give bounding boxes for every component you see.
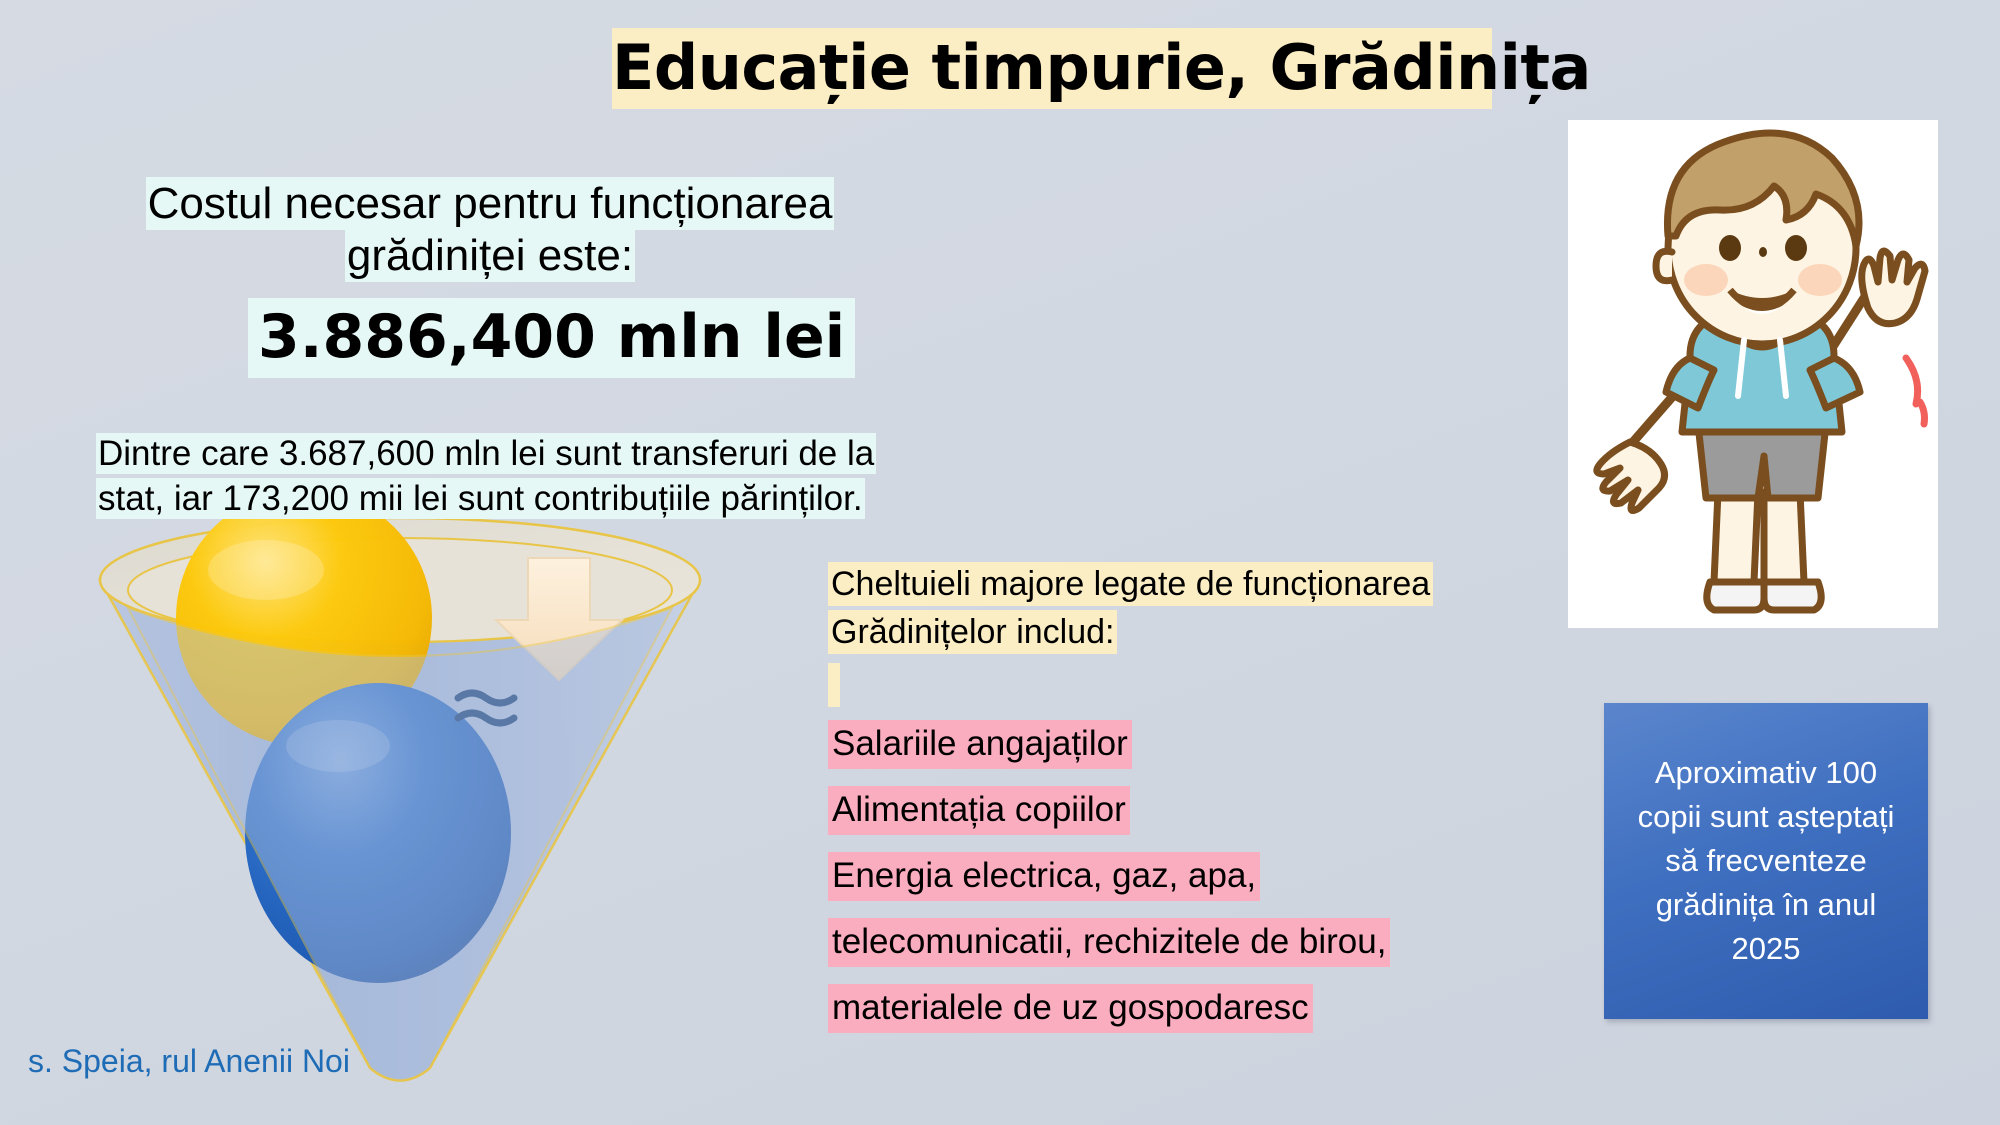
funnel-with-spheres-graphic: [70, 508, 730, 1108]
expenses-item-2: Energia electrica, gaz, apa,: [828, 852, 1260, 901]
list-item: Salariile angajaților: [828, 723, 1588, 765]
expenses-item-0: Salariile angajaților: [828, 720, 1132, 769]
expenses-heading-line1: Cheltuieli majore legate de funcționarea: [828, 562, 1433, 606]
footer-caption: s. Speia, rul Anenii Noi: [28, 1043, 350, 1080]
expenses-item-4: materialele de uz gospodaresc: [828, 984, 1313, 1033]
expenses-heading: Cheltuieli majore legate de funcționarea…: [828, 560, 1588, 657]
expenses-item-1: Alimentația copiilor: [828, 786, 1130, 835]
stat-box-text: Aproximativ 100 copii sunt așteptați să …: [1622, 751, 1910, 971]
expenses-item-3: telecomunicatii, rechizitele de birou,: [828, 918, 1390, 967]
list-item: Energia electrica, gaz, apa,: [828, 855, 1588, 897]
cost-amount-value: 3.886,400 mln lei: [248, 298, 855, 378]
page-title: Educație timpurie, Grădinița: [612, 28, 1492, 109]
cost-heading: Costul necesar pentru funcționarea grădi…: [120, 178, 860, 282]
list-item: telecomunicatii, rechizitele de birou,: [828, 921, 1588, 963]
cost-note-line2: stat, iar 173,200 mii lei sunt contribuț…: [96, 478, 865, 519]
expenses-blank-highlight-bar: [828, 663, 840, 707]
expenses-heading-line2: Grădinițelor includ:: [828, 610, 1117, 654]
cost-heading-line1: Costul necesar pentru funcționarea: [146, 177, 835, 230]
waving-boy-illustration: [1568, 120, 1938, 628]
expenses-list: Salariile angajaților Alimentația copiil…: [828, 723, 1588, 1053]
status-badge-stat-box: Aproximativ 100 copii sunt așteptați să …: [1604, 703, 1928, 1019]
list-item: materialele de uz gospodaresc: [828, 987, 1588, 1029]
cost-heading-line2: grădiniței este:: [345, 229, 635, 282]
cost-note-line1: Dintre care 3.687,600 mln lei sunt trans…: [96, 433, 876, 474]
slide-canvas: Educație timpurie, Grădinița: [0, 0, 2000, 1125]
cost-note: Dintre care 3.687,600 mln lei sunt trans…: [96, 432, 1056, 522]
list-item: Alimentația copiilor: [828, 789, 1588, 831]
